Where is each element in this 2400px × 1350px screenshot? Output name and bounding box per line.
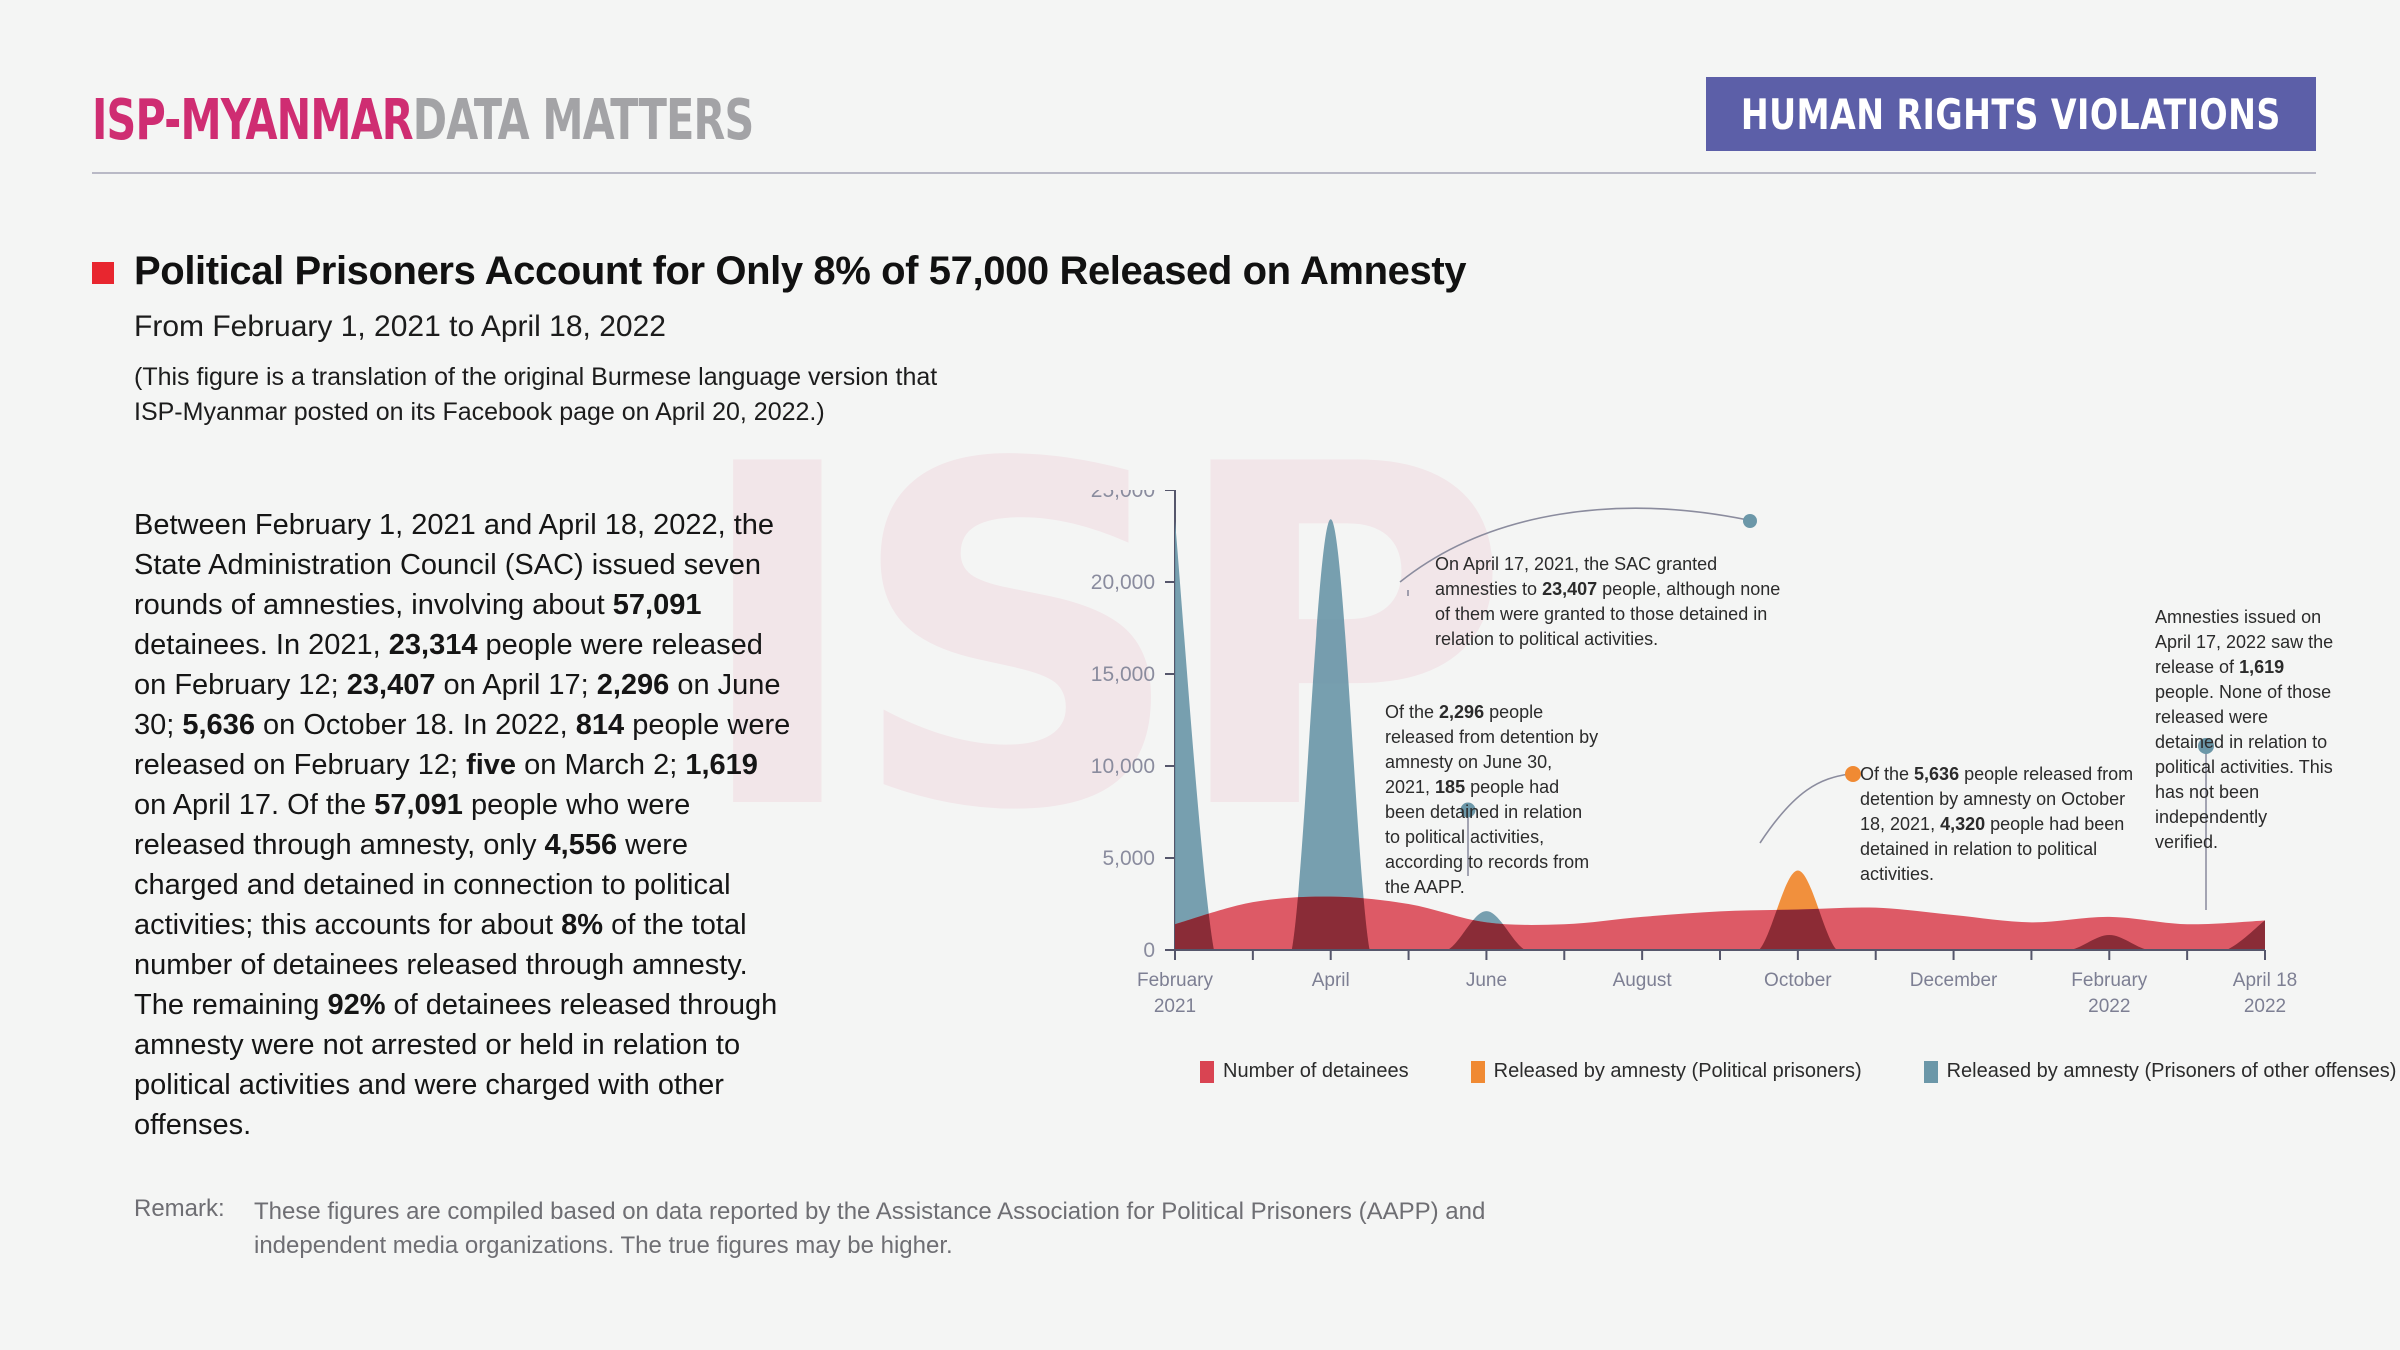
category-banner: HUMAN RIGHTS VIOLATIONS — [1706, 77, 2316, 151]
translation-note-line-2: ISP-Myanmar posted on its Facebook page … — [134, 395, 937, 430]
x-tick-label: February — [1137, 970, 1214, 991]
legend-swatch-icon — [1471, 1061, 1485, 1083]
x-tick-sublabel: 2022 — [2244, 996, 2286, 1017]
legend-item: Number of detainees — [1200, 1060, 1409, 1083]
y-tick-label: 25,000 — [1091, 490, 1155, 502]
marker-october-2021 — [1845, 766, 1861, 782]
x-tick-label: October — [1764, 970, 1832, 991]
x-tick-sublabel: 2021 — [1154, 996, 1196, 1017]
category-banner-label: HUMAN RIGHTS VIOLATIONS — [1741, 90, 2281, 139]
legend-label: Number of detainees — [1223, 1060, 1409, 1083]
body-paragraph: Between February 1, 2021 and April 18, 2… — [134, 505, 794, 1145]
y-tick-label: 0 — [1143, 939, 1155, 962]
legend-item: Released by amnesty (Political prisoners… — [1471, 1060, 1862, 1083]
x-tick-label: August — [1613, 970, 1673, 991]
header-divider — [92, 172, 2316, 174]
logo-brand-text: ISP-MYANMAR — [92, 88, 413, 153]
annotation-june-30-2021: Of the 2,296 people released from detent… — [1385, 700, 1600, 900]
x-tick-label: February — [2071, 970, 2148, 991]
remark-block: Remark: These figures are compiled based… — [134, 1195, 1574, 1263]
annotation-april-17-2022: Amnesties issued on April 17, 2022 saw t… — [2155, 605, 2335, 855]
remark-label: Remark: — [134, 1195, 254, 1263]
annotation-april-17-2021: On April 17, 2021, the SAC granted amnes… — [1435, 552, 1795, 652]
legend-item: Released by amnesty (Prisoners of other … — [1924, 1060, 2397, 1083]
page-subtitle: From February 1, 2021 to April 18, 2022 — [134, 310, 666, 344]
x-tick-label: April 18 — [2233, 970, 2297, 991]
page-header: ISP-MYANMARDATA MATTERS HUMAN RIGHTS VIO… — [0, 0, 2400, 190]
x-tick-label: April — [1312, 970, 1350, 991]
translation-note: (This figure is a translation of the ori… — [134, 360, 937, 430]
x-tick-label: December — [1910, 970, 1998, 991]
legend-swatch-icon — [1924, 1061, 1938, 1083]
marker-april-2021 — [1743, 514, 1757, 528]
x-tick-label: June — [1466, 970, 1507, 991]
y-tick-label: 15,000 — [1091, 663, 1155, 686]
logo-suffix-text: DATA MATTERS — [413, 88, 754, 153]
y-tick-label: 20,000 — [1091, 571, 1155, 594]
translation-note-line-1: (This figure is a translation of the ori… — [134, 360, 937, 395]
x-axis: February2021AprilJuneAugustOctoberDecemb… — [1137, 950, 2297, 1017]
page-title: Political Prisoners Account for Only 8% … — [134, 248, 1466, 294]
legend-swatch-icon — [1200, 1061, 1214, 1083]
annotation-october-18-2021: Of the 5,636 people released from detent… — [1860, 762, 2140, 887]
chart-legend: Number of detaineesReleased by amnesty (… — [1200, 1060, 2400, 1083]
y-tick-label: 5,000 — [1102, 847, 1155, 870]
title-block: Political Prisoners Account for Only 8% … — [92, 248, 1466, 294]
legend-label: Released by amnesty (Political prisoners… — [1494, 1060, 1862, 1083]
brand-logo: ISP-MYANMARDATA MATTERS — [92, 88, 753, 153]
y-tick-label: 10,000 — [1091, 755, 1155, 778]
legend-label: Released by amnesty (Prisoners of other … — [1947, 1060, 2397, 1083]
y-axis: 05,00010,00015,00020,00025,000 — [1091, 490, 1175, 962]
remark-text: These figures are compiled based on data… — [254, 1195, 1574, 1263]
title-bullet-icon — [92, 262, 114, 284]
x-tick-sublabel: 2022 — [2088, 996, 2130, 1017]
